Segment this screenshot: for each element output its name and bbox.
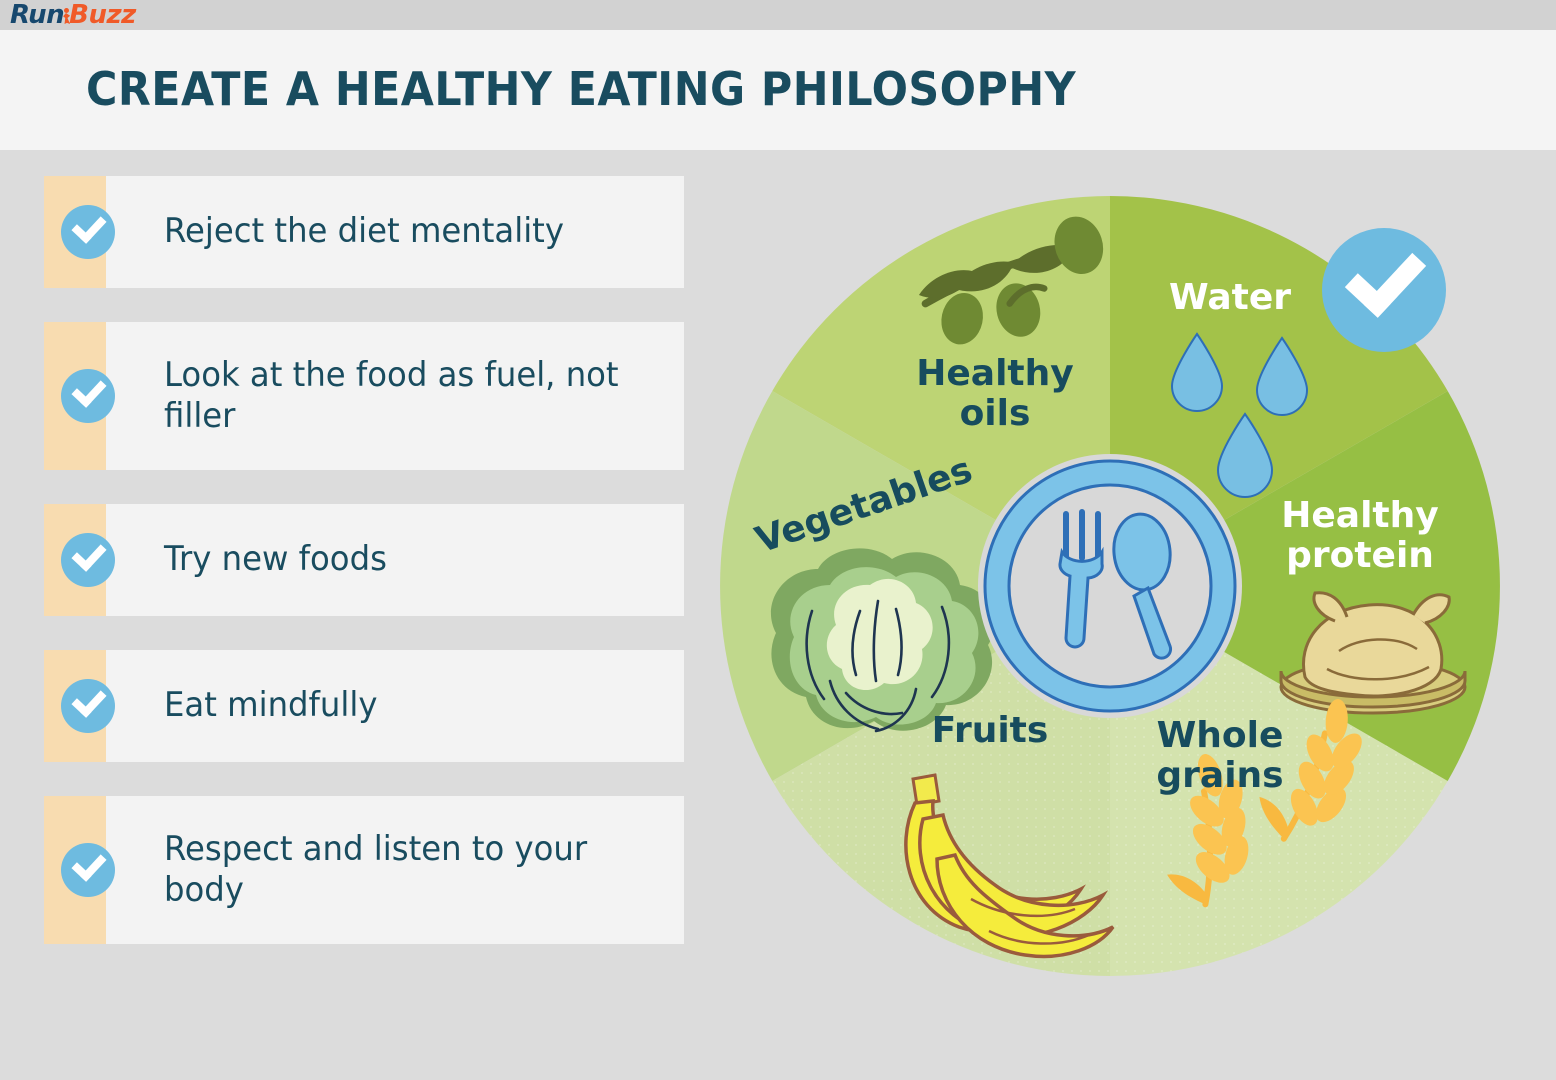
list-item-body: Respect and listen to your body bbox=[106, 796, 684, 944]
check-badge-icon bbox=[1322, 228, 1446, 352]
list-item-label: Reject the diet mentality bbox=[164, 211, 564, 252]
logo-bar: RunBuzz bbox=[0, 0, 1556, 30]
list-item-label: Look at the food as fuel, not filler bbox=[164, 355, 643, 438]
list-item[interactable]: Look at the food as fuel, not filler bbox=[44, 322, 684, 470]
list-item[interactable]: Respect and listen to your body bbox=[44, 796, 684, 944]
list-item[interactable]: Try new foods bbox=[44, 504, 684, 616]
plate-fork-spoon-icon bbox=[978, 454, 1242, 718]
check-icon bbox=[61, 679, 115, 733]
logo-text-run: Run bbox=[10, 0, 64, 30]
check-icon bbox=[61, 843, 115, 897]
check-icon bbox=[61, 369, 115, 423]
list-item-label: Respect and listen to your body bbox=[164, 829, 643, 912]
page-title: CREATE A HEALTHY EATING PHILOSOPHY bbox=[86, 62, 1076, 116]
list-item-body: Try new foods bbox=[106, 504, 684, 616]
runner-icon bbox=[62, 6, 71, 26]
list-item-body: Eat mindfully bbox=[106, 650, 684, 762]
list-item-body: Reject the diet mentality bbox=[106, 176, 684, 288]
check-icon bbox=[61, 533, 115, 587]
list-item[interactable]: Reject the diet mentality bbox=[44, 176, 684, 288]
healthy-eating-plate-wheel: Healthy oils Vegetables Water Healthy pr… bbox=[710, 186, 1510, 986]
list-item-body: Look at the food as fuel, not filler bbox=[106, 322, 684, 470]
list-item[interactable]: Eat mindfully bbox=[44, 650, 684, 762]
runbuzz-logo[interactable]: RunBuzz bbox=[10, 1, 136, 29]
list-item-label: Try new foods bbox=[164, 539, 387, 580]
logo-text-buzz: Buzz bbox=[69, 0, 136, 30]
checklist: Reject the diet mentality Look at the fo… bbox=[44, 176, 684, 978]
check-icon bbox=[61, 205, 115, 259]
list-item-label: Eat mindfully bbox=[164, 685, 377, 726]
